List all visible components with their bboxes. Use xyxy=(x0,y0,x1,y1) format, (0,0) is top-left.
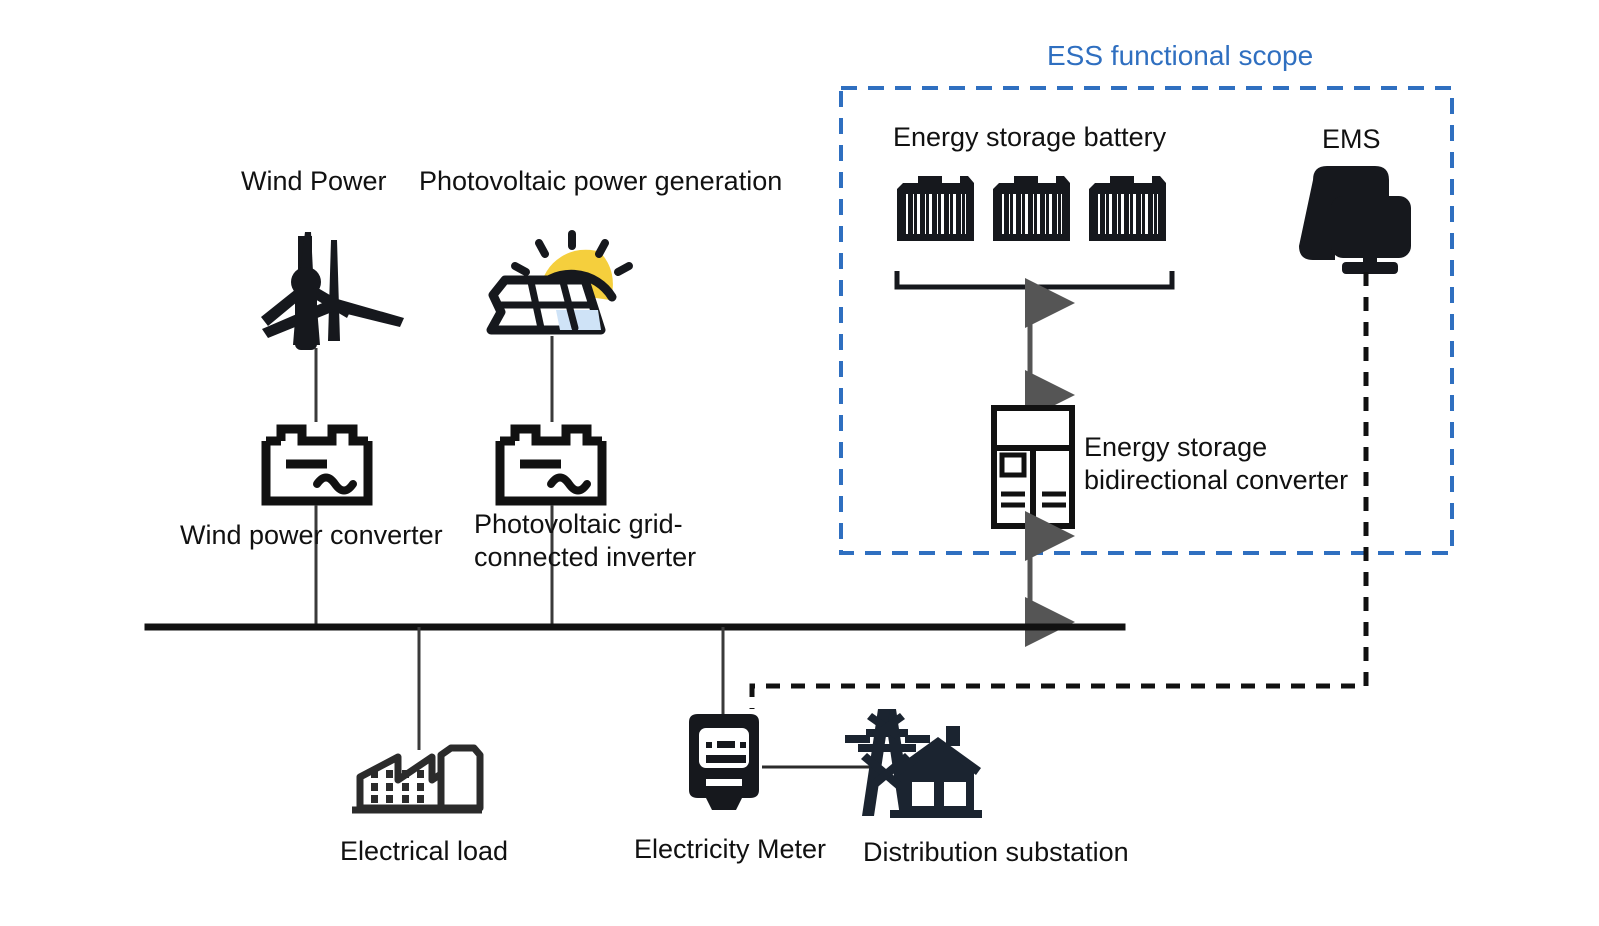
battery-icon xyxy=(993,176,1070,241)
wind-converter-label: Wind power converter xyxy=(180,519,443,552)
factory-icon xyxy=(352,748,482,810)
inverter-icon xyxy=(500,429,602,501)
battery-icon xyxy=(1089,176,1166,241)
electricity-meter-icon xyxy=(689,714,759,810)
converter-icon xyxy=(266,429,368,501)
power-cabinet-icon xyxy=(994,408,1072,526)
wind-turbine-icon xyxy=(261,232,404,350)
electrical-load-label: Electrical load xyxy=(340,835,508,868)
pylon-house-icon xyxy=(845,709,982,818)
pv-power-label: Photovoltaic power generation xyxy=(419,165,782,198)
ess-scope-title: ESS functional scope xyxy=(1047,40,1313,72)
diagram-canvas: ESS functional scope Wind Power Photovol… xyxy=(0,0,1599,926)
distribution-substation-label: Distribution substation xyxy=(863,836,1129,869)
battery-bracket xyxy=(897,271,1172,287)
computer-monitor-icon xyxy=(1299,166,1411,274)
battery-icon xyxy=(897,176,974,241)
pv-inverter-label: Photovoltaic grid-connected inverter xyxy=(474,508,804,574)
electricity-meter-label: Electricity Meter xyxy=(634,833,826,866)
ems-label: EMS xyxy=(1322,123,1381,156)
ess-converter-label: Energy storage bidirectional converter xyxy=(1084,431,1374,497)
battery-icon-group xyxy=(897,176,1166,241)
wind-power-label: Wind Power xyxy=(241,165,387,198)
energy-storage-battery-label: Energy storage battery xyxy=(893,121,1166,154)
solar-panel-icon xyxy=(491,234,629,330)
